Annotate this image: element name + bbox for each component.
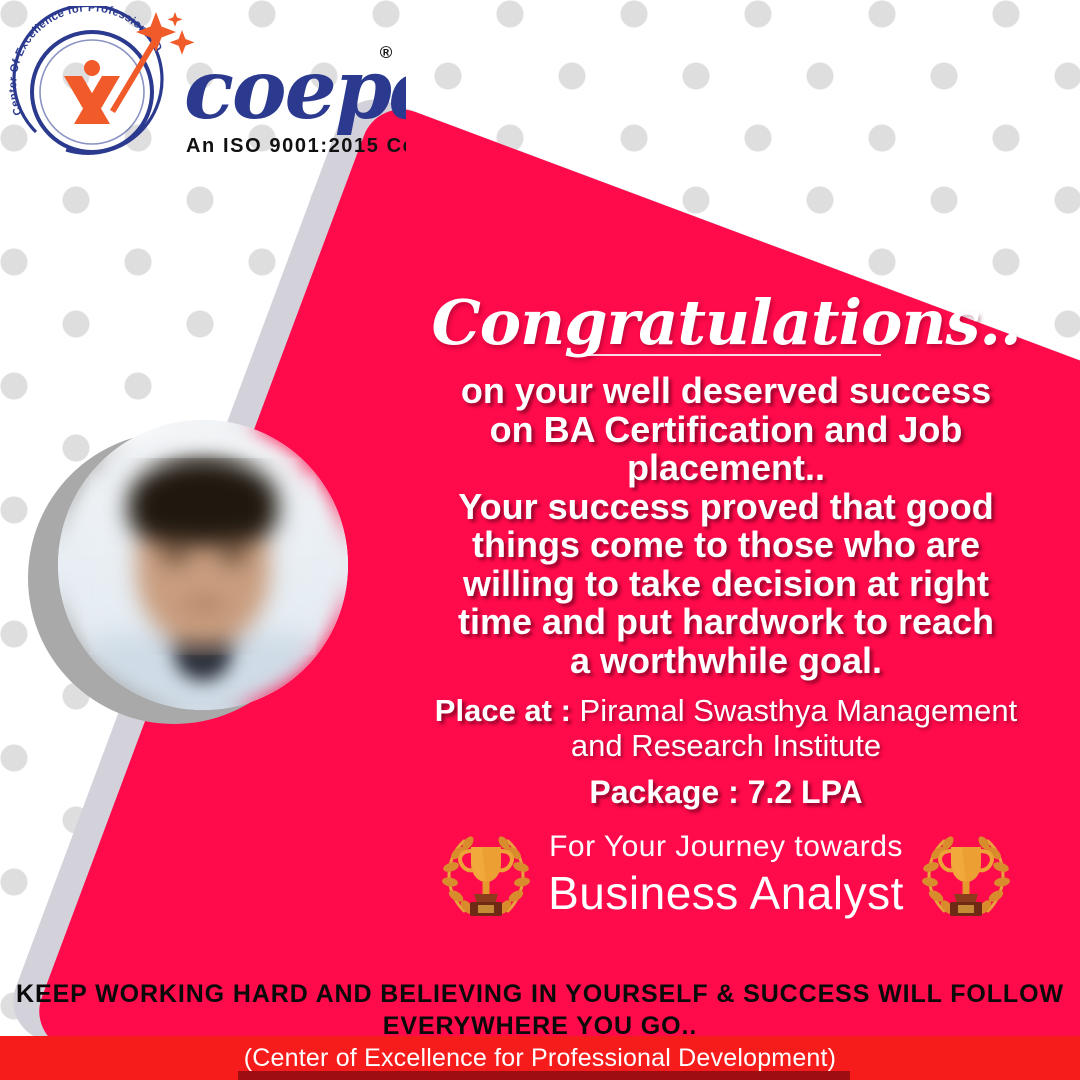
body-line: placement.. (376, 449, 1076, 488)
tagline-line: KEEP WORKING HARD AND BELIEVING IN YOURS… (0, 978, 1080, 1010)
footer-bar: (Center of Excellence for Professional D… (0, 1036, 1080, 1080)
package-info: Package : 7.2 LPA (376, 774, 1076, 811)
placement-info: Place at : Piramal Swasthya Management a… (376, 694, 1076, 763)
body-line: on your well deserved success (376, 372, 1076, 411)
package-value: 7.2 LPA (748, 774, 863, 810)
svg-text:®: ® (380, 43, 393, 62)
svg-text:An ISO 9001:2015 Certified: An ISO 9001:2015 Certified (186, 135, 406, 157)
body-line: time and put hardwork to reach (376, 603, 1076, 642)
body-line: on BA Certification and Job (376, 411, 1076, 450)
placement-company-line2: and Research Institute (376, 729, 1076, 764)
trophy-laurel-icon (438, 825, 534, 925)
candidate-photo (58, 420, 348, 710)
message-block: Congratulations.. on your well deserved … (376, 292, 1076, 925)
placement-company-line1: Piramal Swasthya Management (580, 693, 1018, 728)
motivational-tagline: KEEP WORKING HARD AND BELIEVING IN YOURS… (0, 978, 1080, 1042)
journey-prefix: For Your Journey towards (548, 830, 904, 864)
footer-dark-strip (238, 1071, 850, 1080)
poster-canvas: Center Of Excellence for Professional De… (0, 0, 1080, 1080)
body-line: things come to those who are (376, 526, 1076, 565)
congratulations-body: on your well deserved success on BA Cert… (376, 372, 1076, 680)
journey-block: For Your Journey towards Business Analys… (376, 825, 1076, 925)
body-line: a worthwhile goal. (376, 642, 1076, 681)
body-line: willing to take decision at right (376, 565, 1076, 604)
trophy-laurel-icon (918, 825, 1014, 925)
placement-label: Place at : (435, 693, 571, 728)
congratulations-headline: Congratulations.. (376, 292, 1076, 354)
body-line: Your success proved that good (376, 488, 1076, 527)
journey-role: Business Analyst (548, 866, 904, 920)
package-label: Package : (589, 774, 738, 810)
coepd-logo: Center Of Excellence for Professional De… (6, 6, 406, 166)
svg-text:coepd: coepd (184, 42, 406, 138)
